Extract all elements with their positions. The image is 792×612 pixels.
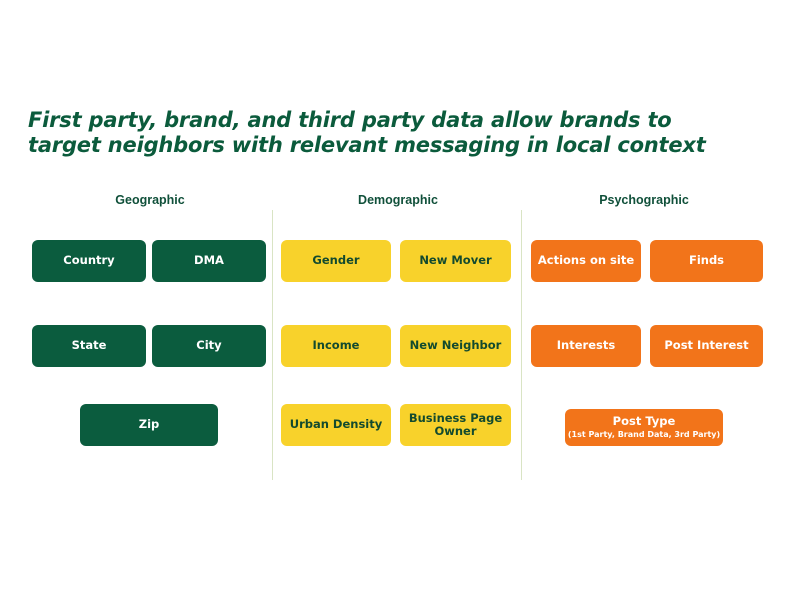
- pill-urban-density[interactable]: Urban Density: [281, 404, 391, 446]
- pill-finds[interactable]: Finds: [650, 240, 763, 282]
- pill-zip[interactable]: Zip: [80, 404, 218, 446]
- title-line-1: First party, brand, and third party data…: [28, 108, 668, 133]
- pill-gender[interactable]: Gender: [281, 240, 391, 282]
- column-divider-left: [272, 210, 273, 480]
- pill-dma[interactable]: DMA: [152, 240, 266, 282]
- slide-canvas: First party, brand, and third party data…: [0, 0, 792, 612]
- pill-post-interest[interactable]: Post Interest: [650, 325, 763, 367]
- column-header-psychographic: Psychographic: [524, 193, 764, 207]
- page-title: First party, brand, and third party data…: [28, 108, 668, 158]
- pill-state[interactable]: State: [32, 325, 146, 367]
- pill-post-type-label: Post Type: [613, 415, 676, 429]
- pill-new-mover[interactable]: New Mover: [400, 240, 511, 282]
- pill-interests[interactable]: Interests: [531, 325, 641, 367]
- column-header-demographic: Demographic: [278, 193, 518, 207]
- pill-new-neighbor[interactable]: New Neighbor: [400, 325, 511, 367]
- pill-country[interactable]: Country: [32, 240, 146, 282]
- column-divider-right: [521, 210, 522, 480]
- pill-actions-on-site[interactable]: Actions on site: [531, 240, 641, 282]
- pill-income[interactable]: Income: [281, 325, 391, 367]
- pill-post-type[interactable]: Post Type (1st Party, Brand Data, 3rd Pa…: [565, 409, 723, 446]
- column-header-geographic: Geographic: [30, 193, 270, 207]
- pill-city[interactable]: City: [152, 325, 266, 367]
- pill-post-type-sublabel: (1st Party, Brand Data, 3rd Party): [568, 429, 720, 440]
- pill-business-page-owner[interactable]: Business Page Owner: [400, 404, 511, 446]
- title-line-2: target neighbors with relevant messaging…: [28, 133, 668, 158]
